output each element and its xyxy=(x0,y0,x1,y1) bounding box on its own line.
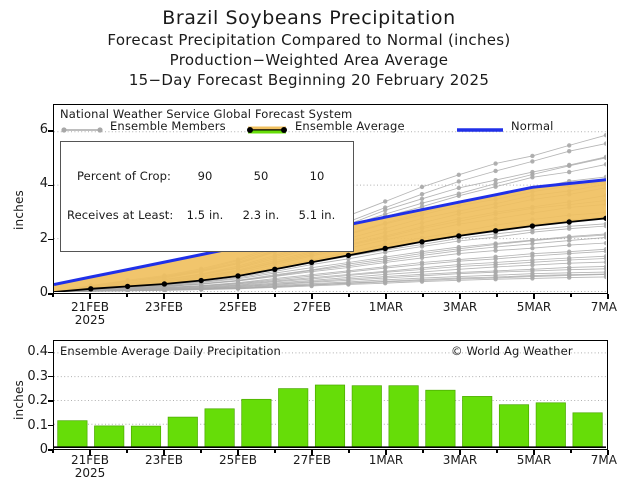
top-chart-legend: National Weather Service Global Forecast… xyxy=(60,107,600,137)
top-xtick-mark-27FEB xyxy=(311,294,312,299)
crop-percent-50: 50 xyxy=(233,170,289,183)
crop-percent-10: 10 xyxy=(289,170,345,183)
bottom-xaxis-year-label: 2025 xyxy=(55,466,125,480)
top-xtick-minor-2 xyxy=(126,294,127,297)
legend-label-ensemble-members: Ensemble Members xyxy=(110,119,226,133)
bottom-xtick-minor-0 xyxy=(52,450,53,453)
bottom-ytick-label-0.4: 0.4 xyxy=(10,344,48,359)
legend-entry-ensemble-average: Ensemble Average xyxy=(245,122,405,136)
top-chart-y-axis-label: inches xyxy=(12,190,26,230)
bottom-xtick-minor-10 xyxy=(422,450,423,453)
subtitle-1: Forecast Precipitation Compared to Norma… xyxy=(0,30,618,50)
bottom-xtick-minor-4 xyxy=(200,450,201,453)
bottom-xtick-minor-14 xyxy=(570,450,571,453)
top-xtick-minor-12 xyxy=(496,294,497,297)
top-xtick-minor-14 xyxy=(570,294,571,297)
crop-amount-label: Receives at Least: xyxy=(67,209,177,222)
normal-swatch-icon xyxy=(455,124,505,136)
ensemble-members-swatch-icon xyxy=(60,124,104,136)
bottom-xtick-label-1MAR: 1MAR xyxy=(351,453,421,467)
top-xtick-mark-25FEB xyxy=(237,294,238,299)
legend-entry-normal: Normal xyxy=(455,122,554,136)
legend-entry-ensemble-members: Ensemble Members xyxy=(60,122,226,136)
bottom-ytick-mark-0.1 xyxy=(48,425,53,426)
top-xtick-mark-3MAR xyxy=(459,294,460,299)
crop-percent-label: Percent of Crop: xyxy=(67,170,177,183)
bottom-xtick-mark-21FEB xyxy=(89,450,90,455)
bottom-ytick-label-0.3: 0.3 xyxy=(10,369,48,384)
top-xtick-label-23FEB: 23FEB xyxy=(129,300,199,314)
ensemble-average-swatch-icon xyxy=(245,124,289,136)
bottom-xtick-mark-1MAR xyxy=(385,450,386,455)
bottom-xtick-mark-25FEB xyxy=(237,450,238,455)
top-xtick-minor-6 xyxy=(274,294,275,297)
bottom-xtick-minor-12 xyxy=(496,450,497,453)
top-xtick-label-27FEB: 27FEB xyxy=(277,300,347,314)
legend-label-ensemble-average: Ensemble Average xyxy=(295,119,405,133)
top-xtick-minor-0 xyxy=(52,294,53,297)
bottom-xtick-label-3MAR: 3MAR xyxy=(425,453,495,467)
top-xtick-mark-21FEB xyxy=(89,294,90,299)
crop-amount-10: 5.1 in. xyxy=(289,209,345,222)
bottom-xtick-minor-2 xyxy=(126,450,127,453)
top-xtick-label-5MAR: 5MAR xyxy=(499,300,569,314)
top-ytick-mark-4 xyxy=(48,185,53,186)
bottom-chart-title: Ensemble Average Daily Precipitation xyxy=(60,344,281,358)
bottom-xtick-mark-23FEB xyxy=(163,450,164,455)
crop-amount-row: Receives at Least: 1.5 in. 2.3 in. 5.1 i… xyxy=(67,209,345,222)
top-xtick-label-1MAR: 1MAR xyxy=(351,300,421,314)
crop-percent-90: 90 xyxy=(177,170,233,183)
top-xtick-label-21FEB: 21FEB xyxy=(55,300,125,314)
top-ytick-label-6: 6 xyxy=(18,122,48,137)
bottom-xtick-label-23FEB: 23FEB xyxy=(129,453,199,467)
top-ytick-mark-2 xyxy=(48,239,53,240)
title-block: Brazil Soybeans Precipitation Forecast P… xyxy=(0,0,618,90)
bottom-xtick-mark-3MAR xyxy=(459,450,460,455)
crop-percent-row: Percent of Crop: 90 50 10 xyxy=(67,170,345,183)
bottom-xtick-mark-27FEB xyxy=(311,450,312,455)
crop-amount-90: 1.5 in. xyxy=(177,209,233,222)
top-xtick-mark-1MAR xyxy=(385,294,386,299)
top-ytick-label-2: 2 xyxy=(18,231,48,246)
bottom-xtick-label-7MAR: 7MAR xyxy=(573,453,618,467)
top-xtick-label-3MAR: 3MAR xyxy=(425,300,495,314)
bottom-ytick-label-0: 0 xyxy=(10,442,48,457)
bottom-ytick-mark-0.4 xyxy=(48,352,53,353)
top-ytick-label-0: 0 xyxy=(18,285,48,300)
bottom-ytick-mark-0.2 xyxy=(48,400,53,401)
top-xaxis-year-label: 2025 xyxy=(55,313,125,327)
crop-percentile-box: Percent of Crop: 90 50 10 Receives at Le… xyxy=(60,141,354,252)
top-xtick-minor-8 xyxy=(348,294,349,297)
bottom-ytick-label-0.2: 0.2 xyxy=(10,393,48,408)
top-xtick-mark-5MAR xyxy=(533,294,534,299)
top-xtick-label-25FEB: 25FEB xyxy=(203,300,273,314)
top-xtick-minor-4 xyxy=(200,294,201,297)
subtitle-3: 15−Day Forecast Beginning 20 February 20… xyxy=(0,70,618,90)
bottom-xtick-mark-7MAR xyxy=(607,450,608,455)
top-xtick-mark-7MAR xyxy=(607,294,608,299)
bottom-xtick-minor-6 xyxy=(274,450,275,453)
top-xtick-label-7MAR: 7MAR xyxy=(573,300,618,314)
bottom-xtick-mark-5MAR xyxy=(533,450,534,455)
page-title: Brazil Soybeans Precipitation xyxy=(0,6,618,30)
bottom-xtick-label-21FEB: 21FEB xyxy=(55,453,125,467)
legend-label-normal: Normal xyxy=(511,119,554,133)
bottom-ytick-mark-0.3 xyxy=(48,376,53,377)
subtitle-2: Production−Weighted Area Average xyxy=(0,50,618,70)
bottom-ytick-label-0.1: 0.1 xyxy=(10,418,48,433)
top-xtick-minor-10 xyxy=(422,294,423,297)
bottom-xtick-label-5MAR: 5MAR xyxy=(499,453,569,467)
top-xtick-mark-23FEB xyxy=(163,294,164,299)
top-ytick-mark-6 xyxy=(48,130,53,131)
bottom-xtick-minor-8 xyxy=(348,450,349,453)
bottom-xtick-label-25FEB: 25FEB xyxy=(203,453,273,467)
copyright-notice: © World Ag Weather xyxy=(451,344,573,358)
crop-amount-50: 2.3 in. xyxy=(233,209,289,222)
top-ytick-label-4: 4 xyxy=(18,176,48,191)
bottom-xtick-label-27FEB: 27FEB xyxy=(277,453,347,467)
